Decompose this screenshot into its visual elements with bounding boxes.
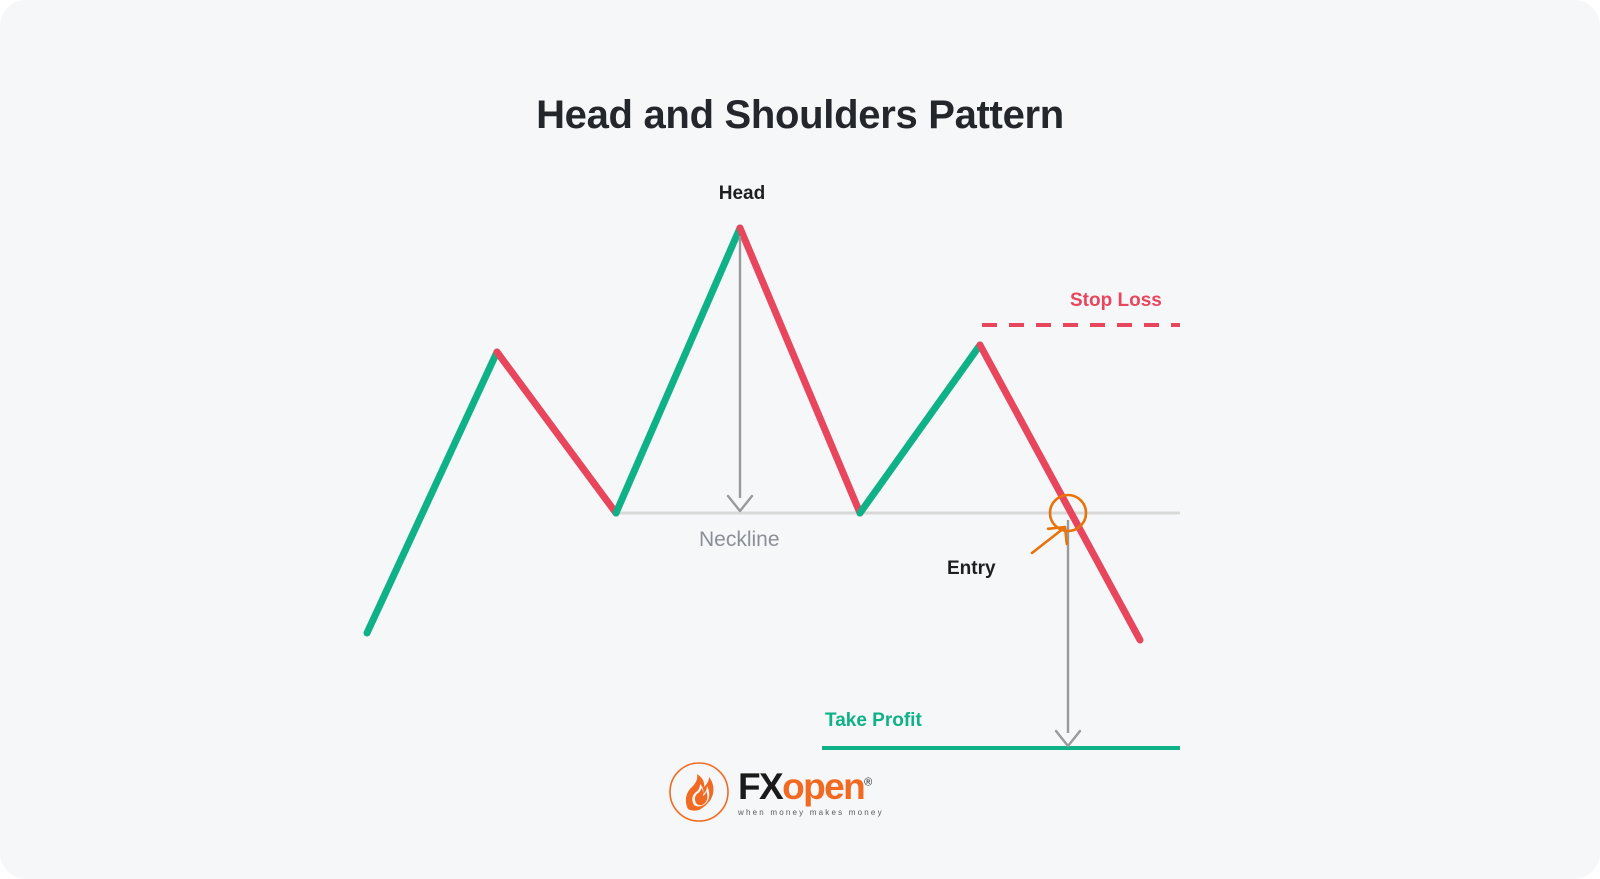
head-label: Head <box>0 183 1484 205</box>
logo-tagline: when money makes money <box>738 808 884 817</box>
segment-down-left-shoulder-to-trough <box>497 352 616 513</box>
fxopen-emblem-icon <box>668 761 730 823</box>
stop-loss-label: Stop Loss <box>1070 290 1162 312</box>
logo-open-text: open <box>782 766 864 807</box>
logo-fx-text: FX <box>738 766 782 807</box>
segment-down-head-to-trough <box>740 228 860 513</box>
segment-down-right-shoulder-to-end <box>980 345 1140 640</box>
segment-up-trough-to-head <box>616 228 740 513</box>
page-title: Head and Shoulders Pattern <box>0 93 1600 138</box>
price-path <box>367 228 1140 640</box>
head-measure-arrow <box>728 236 752 511</box>
target-measure-arrow <box>1056 520 1080 746</box>
neckline-label: Neckline <box>699 528 780 552</box>
segment-up-trough-to-right-shoulder <box>860 345 980 513</box>
registered-trademark-icon: ® <box>864 776 872 788</box>
infographic-canvas: Head and Shoulders Pattern Head Neckline… <box>0 0 1600 879</box>
fxopen-logo: FXopen® when money makes money <box>668 756 898 828</box>
logo-text: FXopen® when money makes money <box>738 761 884 823</box>
entry-pointer-arrow <box>1032 527 1067 553</box>
entry-label: Entry <box>947 558 996 580</box>
logo-wordmark: FXopen® <box>738 768 884 805</box>
take-profit-label: Take Profit <box>825 710 922 732</box>
segment-up-start-to-left-shoulder <box>367 352 497 633</box>
